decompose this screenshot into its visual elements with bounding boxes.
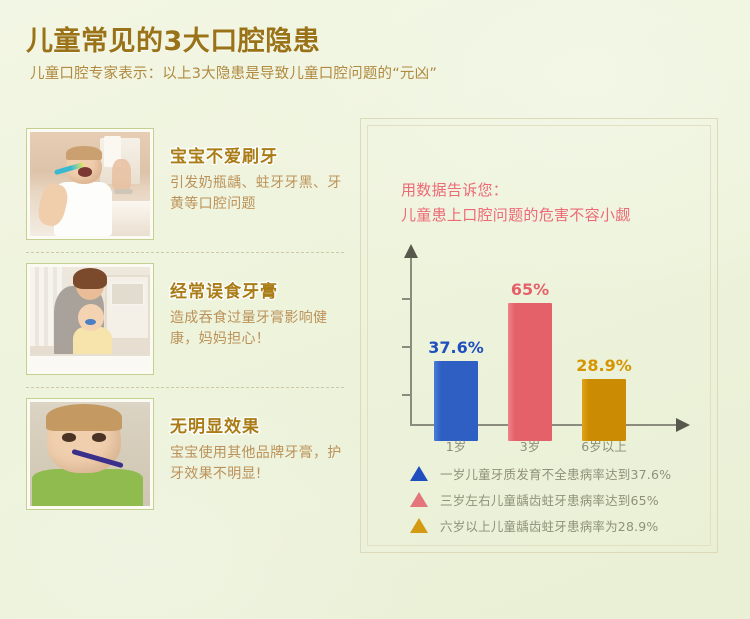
- x-axis-label-1: 1岁: [446, 436, 466, 455]
- baby-right-eye-shape: [92, 433, 105, 441]
- issue-title: 宝宝不爱刷牙: [170, 142, 344, 167]
- photo-baby-with-toothbrush: [30, 402, 150, 506]
- faucet-shape: [114, 189, 133, 194]
- chart-legend: 一岁儿童牙质发育不全患病率达到37.6% 三岁左右儿童龋齿蛀牙患病率达到65% …: [410, 464, 710, 542]
- photo-child-brushing-teeth: [30, 132, 150, 236]
- issue-text: 宝宝不爱刷牙 引发奶瓶龋、蛀牙牙黑、牙黄等口腔问题: [154, 128, 344, 215]
- chart-heading: 用数据告诉您： 儿童患上口腔问题的危害不容小觑: [401, 178, 631, 228]
- legend-item: 六岁以上儿童龋齿蛀牙患病率为28.9%: [410, 516, 710, 535]
- legend-label: 三岁左右儿童龋齿蛀牙患病率达到65%: [440, 490, 659, 509]
- triangle-marker-icon: [410, 518, 428, 533]
- issue-description: 造成吞食过量牙膏影响健康，妈妈担心！: [170, 308, 344, 350]
- bar-chart-plot: 37.6% 65% 28.9% 1岁 3岁 6岁以上: [390, 256, 706, 441]
- bar-rect: [582, 379, 626, 441]
- photo-mother-feeding-baby: [30, 267, 150, 371]
- x-axis-label-3: 6岁以上: [581, 436, 626, 455]
- issue-description: 引发奶瓶龋、蛀牙牙黑、牙黄等口腔问题: [170, 173, 344, 215]
- y-axis-tick: [402, 298, 411, 300]
- issue-block: 宝宝不爱刷牙 引发奶瓶龋、蛀牙牙黑、牙黄等口腔问题: [26, 118, 344, 252]
- bar-value-label: 28.9%: [576, 356, 632, 375]
- x-axis-label-2: 3岁: [520, 436, 540, 455]
- bar-1岁[interactable]: 37.6%: [434, 273, 478, 441]
- x-axis-arrow-icon: [676, 418, 690, 432]
- rail-shape: [30, 354, 150, 371]
- y-axis-arrow-icon: [404, 244, 418, 258]
- chart-heading-line-1: 用数据告诉您：: [401, 178, 631, 203]
- issue-title: 经常误食牙膏: [170, 277, 344, 302]
- cabinet-pane-shape: [110, 282, 145, 307]
- issue-photo-frame: [26, 398, 154, 510]
- y-axis-tick: [402, 394, 411, 396]
- issue-photo-frame: [26, 128, 154, 240]
- bar-rect: [434, 361, 478, 441]
- issue-photo-frame: [26, 263, 154, 375]
- baby-hair-shape: [46, 404, 123, 431]
- child-hair-shape: [66, 146, 102, 161]
- chart-panel-inner-border: 用数据告诉您： 儿童患上口腔问题的危害不容小觑 37.6%: [367, 125, 711, 546]
- legend-item: 一岁儿童牙质发育不全患病率达到37.6%: [410, 464, 710, 483]
- y-axis: [410, 256, 412, 426]
- y-axis-tick: [402, 346, 411, 348]
- triangle-marker-icon: [410, 492, 428, 507]
- issue-block: 无明显效果 宝宝使用其他品牌牙膏，护牙效果不明显!: [26, 387, 344, 522]
- baby-shirt-shape: [32, 469, 142, 506]
- page-root: 儿童常见的3大口腔隐患 儿童口腔专家表示：以上3大隐患是导致儿童口腔问题的“元凶…: [0, 0, 750, 619]
- issue-block: 经常误食牙膏 造成吞食过量牙膏影响健康，妈妈担心！: [26, 252, 344, 387]
- child-mouth-shape: [78, 167, 92, 176]
- legend-item: 三岁左右儿童龋齿蛀牙患病率达到65%: [410, 490, 710, 509]
- issue-title: 无明显效果: [170, 412, 344, 437]
- chart-panel: 用数据告诉您： 儿童患上口腔问题的危害不容小觑 37.6%: [360, 118, 718, 553]
- issue-description: 宝宝使用其他品牌牙膏，护牙效果不明显!: [170, 443, 344, 485]
- bar-6岁以上[interactable]: 28.9%: [582, 273, 626, 441]
- bar-value-label: 37.6%: [428, 338, 484, 357]
- bar-rect: [508, 303, 552, 441]
- reflection-shape: [112, 159, 131, 190]
- legend-label: 六岁以上儿童龋齿蛀牙患病率为28.9%: [440, 516, 659, 535]
- issues-list: 宝宝不爱刷牙 引发奶瓶龋、蛀牙牙黑、牙黄等口腔问题: [26, 118, 344, 522]
- bar-value-label: 65%: [511, 280, 549, 299]
- chart-heading-line-2: 儿童患上口腔问题的危害不容小觑: [401, 203, 631, 228]
- page-header: 儿童常见的3大口腔隐患 儿童口腔专家表示：以上3大隐患是导致儿童口腔问题的“元凶…: [26, 26, 726, 84]
- baby-left-eye-shape: [62, 433, 75, 441]
- page-title: 儿童常见的3大口腔隐患: [26, 26, 726, 57]
- issue-text: 无明显效果 宝宝使用其他品牌牙膏，护牙效果不明显!: [154, 398, 344, 485]
- issue-text: 经常误食牙膏 造成吞食过量牙膏影响健康，妈妈担心！: [154, 263, 344, 350]
- mother-hair-shape: [73, 268, 107, 289]
- triangle-marker-icon: [410, 466, 428, 481]
- legend-label: 一岁儿童牙质发育不全患病率达到37.6%: [440, 464, 671, 483]
- page-subtitle: 儿童口腔专家表示：以上3大隐患是导致儿童口腔问题的“元凶”: [30, 65, 726, 84]
- bar-3岁[interactable]: 65%: [508, 273, 552, 441]
